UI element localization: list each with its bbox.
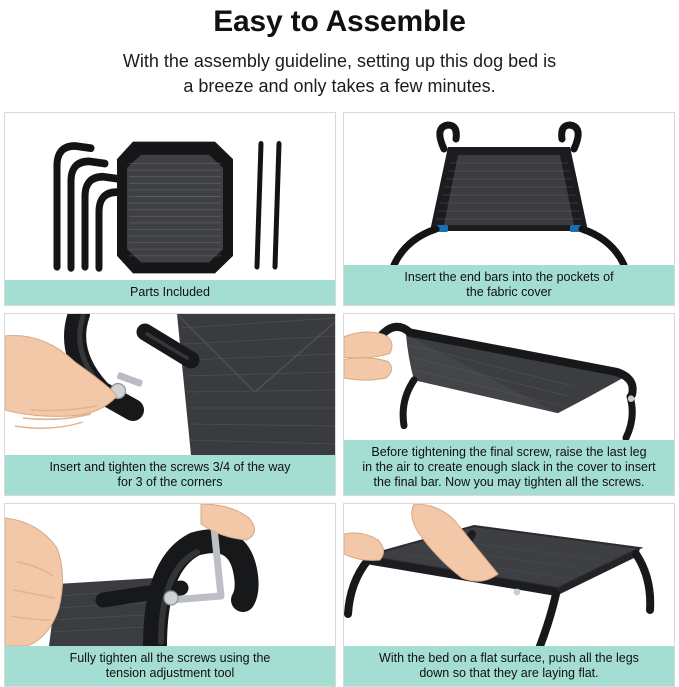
caption-line: Insert the end bars into the pockets of (348, 270, 670, 285)
caption-line: Parts Included (9, 285, 331, 300)
assembly-instructions-page: Easy to Assemble With the assembly guide… (0, 0, 679, 674)
caption-line: Before tightening the final screw, raise… (348, 445, 670, 460)
caption-line: the fabric cover (348, 285, 670, 300)
push-legs-flat-photo (344, 504, 674, 646)
caption-insert-tighten-screws: Insert and tighten the screws 3/4 of the… (5, 455, 335, 495)
caption-push-legs-flat: With the bed on a flat surface, push all… (344, 646, 674, 686)
page-title: Easy to Assemble (0, 4, 679, 40)
assembly-step-grid: Parts Included (4, 112, 675, 687)
parts-included-photo (5, 113, 335, 280)
panel-fully-tighten-screws: Fully tighten all the screws using the t… (4, 503, 336, 687)
caption-line: the final bar. Now you may tighten all t… (348, 475, 670, 490)
caption-line: Insert and tighten the screws 3/4 of the… (9, 460, 331, 475)
insert-end-bars-photo (344, 113, 674, 265)
panel-insert-tighten-screws: Insert and tighten the screws 3/4 of the… (4, 313, 336, 496)
caption-line: in the air to create enough slack in the… (348, 460, 670, 475)
fully-tighten-screws-illustration (5, 504, 335, 646)
subtitle-line-1: With the assembly guideline, setting up … (67, 49, 612, 74)
parts-included-illustration (5, 113, 335, 280)
insert-tighten-screws-illustration (5, 314, 335, 455)
caption-raise-last-leg: Before tightening the final screw, raise… (344, 440, 674, 495)
page-subtitle: With the assembly guideline, setting up … (67, 49, 612, 99)
panel-raise-last-leg: Before tightening the final screw, raise… (343, 313, 675, 496)
insert-end-bars-illustration (344, 113, 674, 265)
insert-tighten-screws-photo (5, 314, 335, 455)
raise-last-leg-photo (344, 314, 674, 440)
fully-tighten-screws-photo (5, 504, 335, 646)
caption-line: With the bed on a flat surface, push all… (348, 651, 670, 666)
caption-line: Fully tighten all the screws using the (9, 651, 331, 666)
subtitle-line-2: a breeze and only takes a few minutes. (67, 74, 612, 99)
panel-parts-included: Parts Included (4, 112, 336, 306)
panel-insert-end-bars: Insert the end bars into the pockets of … (343, 112, 675, 306)
header: Easy to Assemble With the assembly guide… (0, 0, 679, 99)
panel-push-legs-flat: With the bed on a flat surface, push all… (343, 503, 675, 687)
caption-fully-tighten-screws: Fully tighten all the screws using the t… (5, 646, 335, 686)
raise-last-leg-illustration (344, 314, 674, 440)
caption-insert-end-bars: Insert the end bars into the pockets of … (344, 265, 674, 305)
caption-parts-included: Parts Included (5, 280, 335, 305)
caption-line: for 3 of the corners (9, 475, 331, 490)
push-legs-flat-illustration (344, 504, 674, 646)
